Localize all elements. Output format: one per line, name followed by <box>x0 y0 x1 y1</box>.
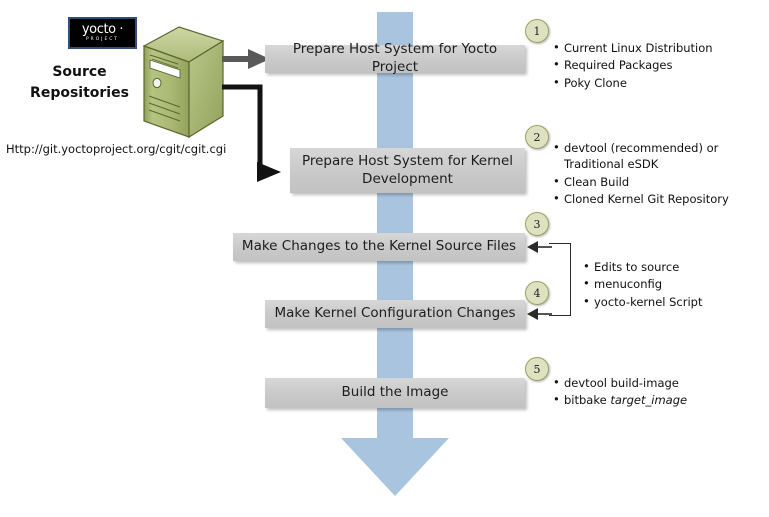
step-2-number: 2 <box>534 131 541 144</box>
list-item: Edits to source <box>583 259 763 275</box>
step-1-number: 1 <box>534 25 541 38</box>
step-4-number: 4 <box>534 287 541 300</box>
list-item: Required Packages <box>553 57 758 73</box>
list-item: Poky Clone <box>553 75 758 91</box>
list-item: menuconfig <box>583 276 763 292</box>
list-item: Cloned Kernel Git Repository <box>553 191 758 207</box>
step-4-badge: 4 <box>525 281 549 305</box>
step-1-badge: 1 <box>525 19 549 43</box>
list-item-bitbake: bitbake target_image <box>553 392 758 408</box>
list-item: Current Linux Distribution <box>553 40 758 56</box>
steps-3-4-bullets: Edits to source menuconfig yocto-kernel … <box>583 259 763 311</box>
step-5-bullets: devtool build-image bitbake target_image <box>553 375 758 410</box>
diagram-canvas: yocto · PROJECT Source Repositories Http… <box>0 0 769 517</box>
step-3-number: 3 <box>534 218 541 231</box>
step-5-badge: 5 <box>525 357 549 381</box>
list-item: yocto-kernel Script <box>583 294 763 310</box>
step-2-bullets: devtool (recommended) or Traditional eSD… <box>553 140 758 208</box>
bitbake-target-arg: target_image <box>610 393 687 407</box>
list-item: devtool build-image <box>553 375 758 391</box>
step-5-number: 5 <box>534 363 541 376</box>
step-2-badge: 2 <box>525 125 549 149</box>
step-1-bullets: Current Linux Distribution Required Pack… <box>553 40 758 92</box>
list-item: devtool (recommended) or Traditional eSD… <box>553 140 758 173</box>
list-item: Clean Build <box>553 174 758 190</box>
step-3-badge: 3 <box>525 212 549 236</box>
